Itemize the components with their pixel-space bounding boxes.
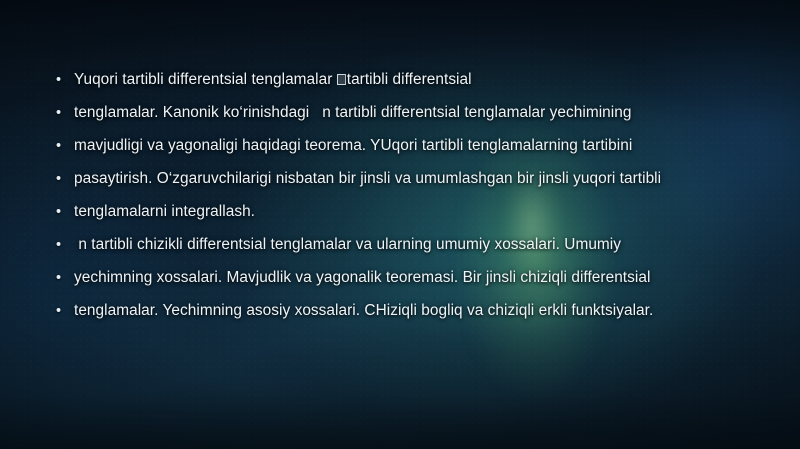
bullet-list-item: • mavjudligi va yagonaligi haqidagi teor… [56,134,750,158]
presentation-slide: • Yuqori tartibli differentsial tenglama… [0,0,800,449]
bullet-marker-icon: • [56,167,74,191]
bullet-list-item: • yechimning xossalari. Mavjudlik va yag… [56,266,750,290]
bullet-marker-icon: • [56,68,74,92]
bullet-text-8: tenglamalar. Yechimning asosiy xossalari… [74,299,750,323]
bullet-text-2: tenglamalar. Kanonik ko‘rinishdagi n tar… [74,101,750,125]
bullet-text-6: n tartibli chizikli differentsial tengla… [74,233,750,257]
bullet-marker-icon: • [56,101,74,125]
bullet-list-item: • Yuqori tartibli differentsial tenglama… [56,68,750,92]
slide-body-content-placeholder[interactable]: • Yuqori tartibli differentsial tenglama… [56,68,750,332]
missing-glyph-box-icon [337,74,346,85]
bullet-marker-icon: • [56,134,74,158]
bullet-marker-icon: • [56,233,74,257]
bullet-marker-icon: • [56,200,74,224]
bullet-marker-icon: • [56,299,74,323]
bullet-list-item: • pasaytirish. O‘zgaruvchilarigi nisbata… [56,167,750,191]
bullet-text-3: mavjudligi va yagonaligi haqidagi teorem… [74,134,750,158]
bullet-text-4: pasaytirish. O‘zgaruvchilarigi nisbatan … [74,167,750,191]
bullet-text-7: yechimning xossalari. Mavjudlik va yagon… [74,266,750,290]
bullet-list-item: • tenglamalar. Yechimning asosiy xossala… [56,299,750,323]
bullet-text-1: Yuqori tartibli differentsial tenglamala… [74,68,750,92]
bullet-list-item: • n tartibli chizikli differentsial teng… [56,233,750,257]
bullet-list-item: • tenglamalarni integrallash. [56,200,750,224]
bullet-text-5: tenglamalarni integrallash. [74,200,750,224]
bullet-list-item: • tenglamalar. Kanonik ko‘rinishdagi n t… [56,101,750,125]
bullet-marker-icon: • [56,266,74,290]
